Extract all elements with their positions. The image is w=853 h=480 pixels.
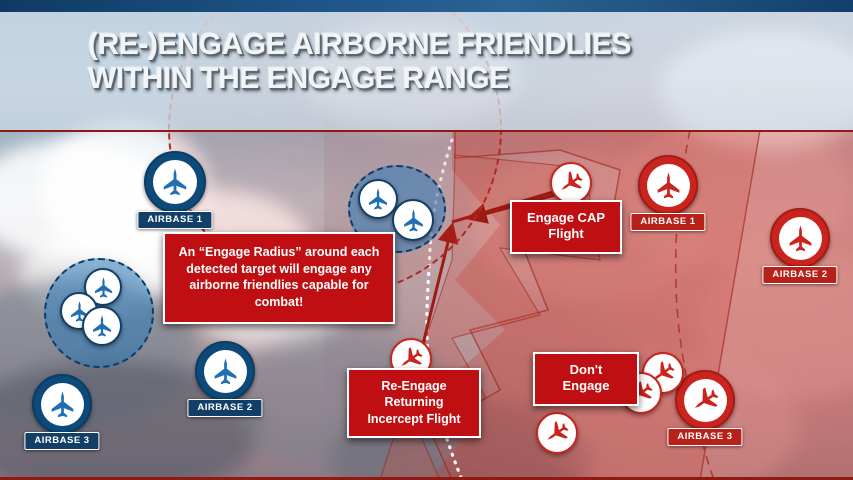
re-engage-callout: Re-Engage Returning Incercept Flight — [347, 368, 481, 438]
engage-radius-callout: An “Engage Radius” around each detected … — [163, 232, 395, 324]
dont-engage-callout: Don't Engage — [533, 352, 639, 406]
enemy-airbase-2[interactable]: AIRBASE 2 — [770, 208, 830, 268]
airbase-icon-plate — [647, 164, 690, 207]
fighter-jet-icon — [401, 208, 426, 233]
fighter-jet-icon — [539, 415, 575, 451]
airbase-icon-plate — [41, 383, 84, 426]
friendly-airbase-1[interactable]: AIRBASE 1 — [144, 151, 206, 213]
fighter-jet-icon — [48, 390, 77, 419]
enemy-airbase-1[interactable]: AIRBASE 1 — [638, 155, 698, 215]
title-band-top-strip — [0, 0, 853, 12]
slide-canvas: (RE-)ENGAGE AIRBORNE FRIENDLIES WITHIN T… — [0, 0, 853, 480]
jet-unit[interactable] — [82, 306, 122, 346]
friendly-airbase-3[interactable]: AIRBASE 3 — [32, 374, 92, 434]
fighter-jet-icon — [553, 165, 589, 201]
airbase-label: AIRBASE 3 — [667, 428, 742, 446]
airbase-label: AIRBASE 3 — [24, 432, 99, 450]
enemy-south-flight-unit[interactable] — [536, 412, 578, 454]
fighter-jet-icon — [92, 276, 115, 299]
airbase-disc[interactable] — [32, 374, 92, 434]
fighter-jet-icon — [160, 167, 190, 197]
airbase-icon-plate — [153, 160, 197, 204]
fighter-jet-icon — [366, 187, 390, 211]
engage-cap-flight-callout: Engage CAP Flight — [510, 200, 622, 254]
fighter-jet-icon — [654, 171, 683, 200]
friendly-flight-group-left[interactable] — [44, 258, 154, 368]
airbase-disc[interactable] — [770, 208, 830, 268]
airbase-icon-plate — [204, 350, 247, 393]
airbase-label: AIRBASE 1 — [137, 211, 212, 229]
airbase-label: AIRBASE 2 — [187, 399, 262, 417]
airbase-icon-plate — [779, 217, 822, 260]
airbase-disc[interactable] — [638, 155, 698, 215]
fighter-jet-icon — [90, 314, 114, 338]
friendly-airbase-2[interactable]: AIRBASE 2 — [195, 341, 255, 401]
airbase-disc[interactable] — [195, 341, 255, 401]
airbase-disc[interactable] — [144, 151, 206, 213]
fighter-jet-icon — [211, 357, 240, 386]
enemy-cap-flight-unit[interactable] — [550, 162, 592, 204]
fighter-jet-icon — [786, 224, 815, 253]
jet-unit[interactable] — [392, 199, 434, 241]
title-band: (RE-)ENGAGE AIRBORNE FRIENDLIES WITHIN T… — [0, 0, 853, 132]
airbase-label: AIRBASE 1 — [630, 213, 705, 231]
airbase-label: AIRBASE 2 — [762, 266, 837, 284]
page-title: (RE-)ENGAGE AIRBORNE FRIENDLIES WITHIN T… — [88, 28, 808, 95]
